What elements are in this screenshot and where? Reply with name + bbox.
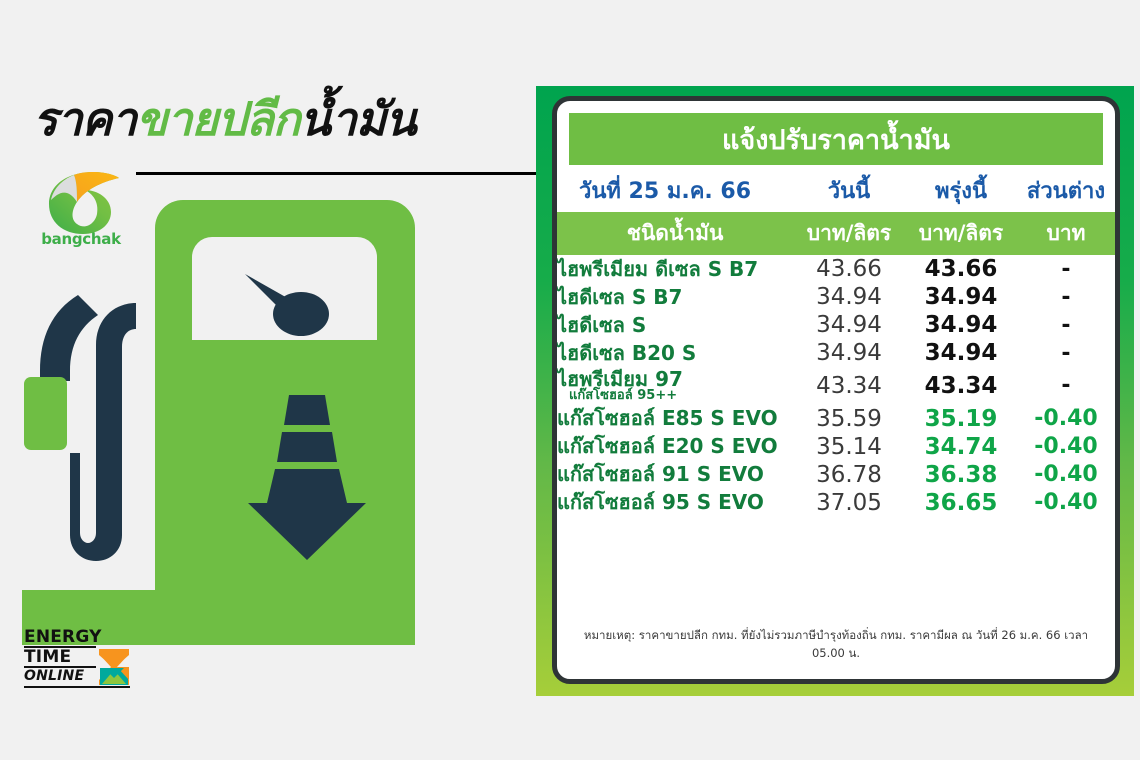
table-row: แก๊สโซฮอล์ E85 S EVO35.5935.19-0.40 xyxy=(557,405,1115,433)
fuel-type-cell: ไฮพรีเมียม ดีเซล S B7 xyxy=(557,255,793,283)
price-today-cell: 36.78 xyxy=(793,461,905,489)
price-tomorrow-cell: 36.65 xyxy=(905,489,1017,517)
page-title-part-3: น้ำมัน xyxy=(300,92,416,146)
header-difference: ส่วนต่าง xyxy=(1017,167,1115,212)
table-row: ไฮดีเซล S34.9434.94- xyxy=(557,311,1115,339)
header-today: วันนี้ xyxy=(793,167,905,212)
price-difference-cell: - xyxy=(1017,339,1115,367)
price-difference-cell: -0.40 xyxy=(1017,461,1115,489)
price-card: แจ้งปรับราคาน้ำมัน วันที่ 25 ม.ค. 66 วัน… xyxy=(552,96,1120,684)
price-difference-cell: - xyxy=(1017,255,1115,283)
fuel-type-cell: ไฮดีเซล B20 S xyxy=(557,339,793,367)
price-difference-cell: -0.40 xyxy=(1017,405,1115,433)
price-difference-cell: -0.40 xyxy=(1017,433,1115,461)
energy-time-wordmark: ENERGY TIME ONLINE xyxy=(24,628,96,685)
fuel-pump-illustration xyxy=(0,180,470,700)
fuel-type-cell: แก๊สโซฮอล์ 95 S EVO xyxy=(557,489,793,517)
page-title-part-1: ราคา xyxy=(33,92,136,146)
price-today-cell: 34.94 xyxy=(793,311,905,339)
fuel-type-cell: ไฮดีเซล S xyxy=(557,311,793,339)
unit-tomorrow: บาท/ลิตร xyxy=(905,212,1017,255)
fuel-type-subtitle: แก๊สโซฮอล์ 95++ xyxy=(557,389,793,404)
gauge-needle-icon xyxy=(245,274,333,336)
price-table-body: ไฮพรีเมียม ดีเซล S B743.6643.66-ไฮดีเซล … xyxy=(557,255,1115,517)
price-tomorrow-cell: 36.38 xyxy=(905,461,1017,489)
price-today-cell: 43.66 xyxy=(793,255,905,283)
price-tomorrow-cell: 34.74 xyxy=(905,433,1017,461)
table-unit-header-row: ชนิดน้ำมัน บาท/ลิตร บาท/ลิตร บาท xyxy=(557,212,1115,255)
fuel-type-cell: ไฮดีเซล S B7 xyxy=(557,283,793,311)
price-difference-cell: -0.40 xyxy=(1017,489,1115,517)
title-divider xyxy=(136,172,540,175)
price-difference-cell: - xyxy=(1017,311,1115,339)
page-title-part-2: ขายปลีก xyxy=(136,92,299,146)
poster-canvas: ราคาขายปลีกน้ำมัน bangchak xyxy=(0,0,1140,760)
price-today-cell: 35.59 xyxy=(793,405,905,433)
price-table: วันที่ 25 ม.ค. 66 วันนี้ พรุ่งนี้ ส่วนต่… xyxy=(557,167,1115,517)
energy-time-online-logo: ENERGY TIME ONLINE xyxy=(24,628,132,690)
nozzle-grip xyxy=(24,377,67,450)
price-today-cell: 34.94 xyxy=(793,339,905,367)
fuel-type-cell: แก๊สโซฮอล์ E20 S EVO xyxy=(557,433,793,461)
header-tomorrow: พรุ่งนี้ xyxy=(905,167,1017,212)
logo-underline xyxy=(24,686,130,688)
table-row: แก๊สโซฮอล์ 91 S EVO36.7836.38-0.40 xyxy=(557,461,1115,489)
price-difference-cell: - xyxy=(1017,283,1115,311)
price-today-cell: 35.14 xyxy=(793,433,905,461)
table-row: ไฮพรีเมียม ดีเซล S B743.6643.66- xyxy=(557,255,1115,283)
unit-diff: บาท xyxy=(1017,212,1115,255)
table-row: ไฮดีเซล S B734.9434.94- xyxy=(557,283,1115,311)
price-today-cell: 34.94 xyxy=(793,283,905,311)
table-row: แก๊สโซฮอล์ 95 S EVO37.0536.65-0.40 xyxy=(557,489,1115,517)
unit-today: บาท/ลิตร xyxy=(793,212,905,255)
table-row: ไฮพรีเมียม 97แก๊สโซฮอล์ 95++43.3443.34- xyxy=(557,367,1115,405)
page-title: ราคาขายปลีกน้ำมัน xyxy=(33,96,416,142)
fuel-type-cell: แก๊สโซฮอล์ E85 S EVO xyxy=(557,405,793,433)
logo-line-energy: ENERGY xyxy=(24,628,96,648)
unit-fuel-type: ชนิดน้ำมัน xyxy=(557,212,793,255)
table-row: แก๊สโซฮอล์ E20 S EVO35.1434.74-0.40 xyxy=(557,433,1115,461)
price-tomorrow-cell: 34.94 xyxy=(905,283,1017,311)
price-difference-cell: - xyxy=(1017,367,1115,405)
logo-line-time: TIME xyxy=(24,648,96,668)
price-tomorrow-cell: 34.94 xyxy=(905,339,1017,367)
fuel-type-cell: ไฮพรีเมียม 97แก๊สโซฮอล์ 95++ xyxy=(557,367,793,405)
hourglass-icon xyxy=(98,648,130,686)
price-tomorrow-cell: 43.34 xyxy=(905,367,1017,405)
price-tomorrow-cell: 35.19 xyxy=(905,405,1017,433)
logo-line-online: ONLINE xyxy=(24,668,96,685)
price-card-title: แจ้งปรับราคาน้ำมัน xyxy=(569,113,1103,165)
arrow-down-icon xyxy=(248,395,366,560)
price-today-cell: 43.34 xyxy=(793,367,905,405)
table-row: ไฮดีเซล B20 S34.9434.94- xyxy=(557,339,1115,367)
table-date-header-row: วันที่ 25 ม.ค. 66 วันนี้ พรุ่งนี้ ส่วนต่… xyxy=(557,167,1115,212)
header-date: วันที่ 25 ม.ค. 66 xyxy=(557,167,793,212)
price-tomorrow-cell: 34.94 xyxy=(905,311,1017,339)
fuel-type-cell: แก๊สโซฮอล์ 91 S EVO xyxy=(557,461,793,489)
price-card-note: หมายเหตุ: ราคาขายปลีก กทม. ที่ยังไม่รวมภ… xyxy=(557,627,1115,663)
price-today-cell: 37.05 xyxy=(793,489,905,517)
price-tomorrow-cell: 43.66 xyxy=(905,255,1017,283)
